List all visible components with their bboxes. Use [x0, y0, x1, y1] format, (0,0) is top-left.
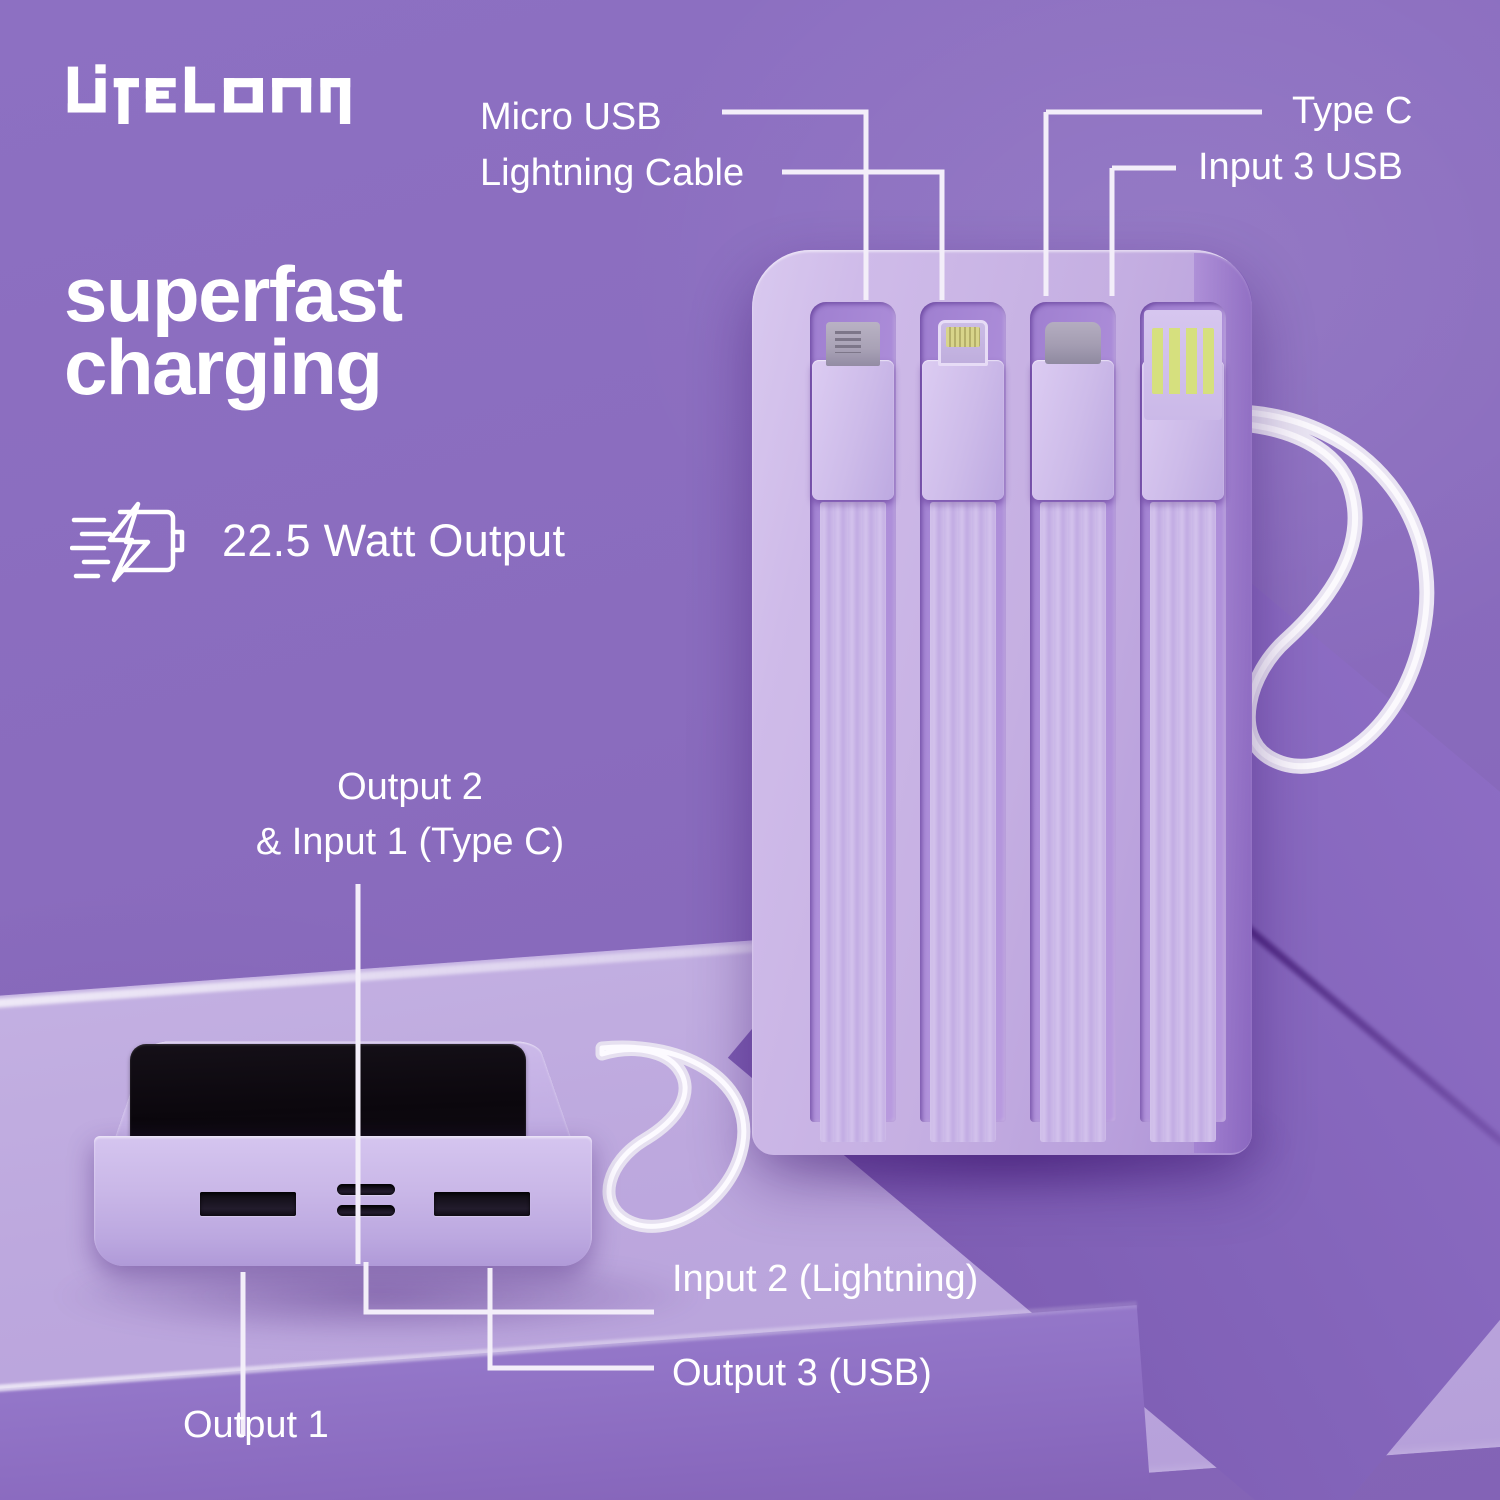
micro-usb-connector-icon	[826, 322, 880, 366]
product-scene: superfast charging 22.5 Watt Output Micr…	[0, 0, 1500, 1500]
lightning-connector-icon	[938, 320, 988, 366]
cable-channel-type-c	[1030, 302, 1116, 1122]
power-bank-lying[interactable]	[86, 948, 686, 1293]
callout-output-2: Output 2 & Input 1 (Type C)	[200, 760, 620, 870]
callout-output-2-line-1: Output 2	[200, 760, 620, 815]
usb-a-connector-icon	[1144, 310, 1222, 420]
power-bank-standing[interactable]	[752, 250, 1252, 1155]
fast-charge-battery-icon	[70, 498, 190, 584]
flat-cable-usb-a	[1150, 502, 1216, 1142]
wattage-feature: 22.5 Watt Output	[70, 498, 565, 584]
callout-output-3: Output 3 (USB)	[672, 1352, 932, 1395]
cable-channel-usb-a	[1140, 302, 1226, 1122]
plug-housing-type-c	[1032, 360, 1114, 500]
lanyard-loop	[1226, 398, 1456, 798]
flat-cable-type-c	[1040, 502, 1106, 1142]
port-input-2[interactable]	[337, 1205, 395, 1216]
plug-housing-lightning	[922, 360, 1004, 500]
callout-output-2-line-2: & Input 1 (Type C)	[200, 815, 620, 870]
page-title: superfast charging	[64, 258, 704, 405]
callout-lightning-cable: Lightning Cable	[480, 152, 744, 195]
headline-line-2: charging	[64, 331, 704, 404]
plug-housing-micro-usb	[812, 360, 894, 500]
flat-cable-lightning	[930, 502, 996, 1142]
port-input-1-output-2[interactable]	[337, 1184, 395, 1195]
lying-unit-front-face	[94, 1136, 592, 1266]
port-output-3[interactable]	[434, 1192, 530, 1216]
type-c-connector-icon	[1045, 322, 1101, 364]
callout-input-3-usb: Input 3 USB	[1198, 146, 1403, 189]
callout-input-2: Input 2 (Lightning)	[672, 1258, 978, 1301]
headline-line-1: superfast	[64, 258, 704, 331]
brand-logo	[64, 62, 354, 124]
callout-output-1: Output 1	[183, 1404, 329, 1447]
flat-cable-micro-usb	[820, 502, 886, 1142]
cable-channel-lightning	[920, 302, 1006, 1122]
wattage-label: 22.5 Watt Output	[222, 515, 565, 567]
callout-micro-usb: Micro USB	[480, 96, 662, 139]
callout-type-c: Type C	[1292, 90, 1412, 133]
cable-channel-micro-usb	[810, 302, 896, 1122]
port-output-1[interactable]	[200, 1192, 296, 1216]
